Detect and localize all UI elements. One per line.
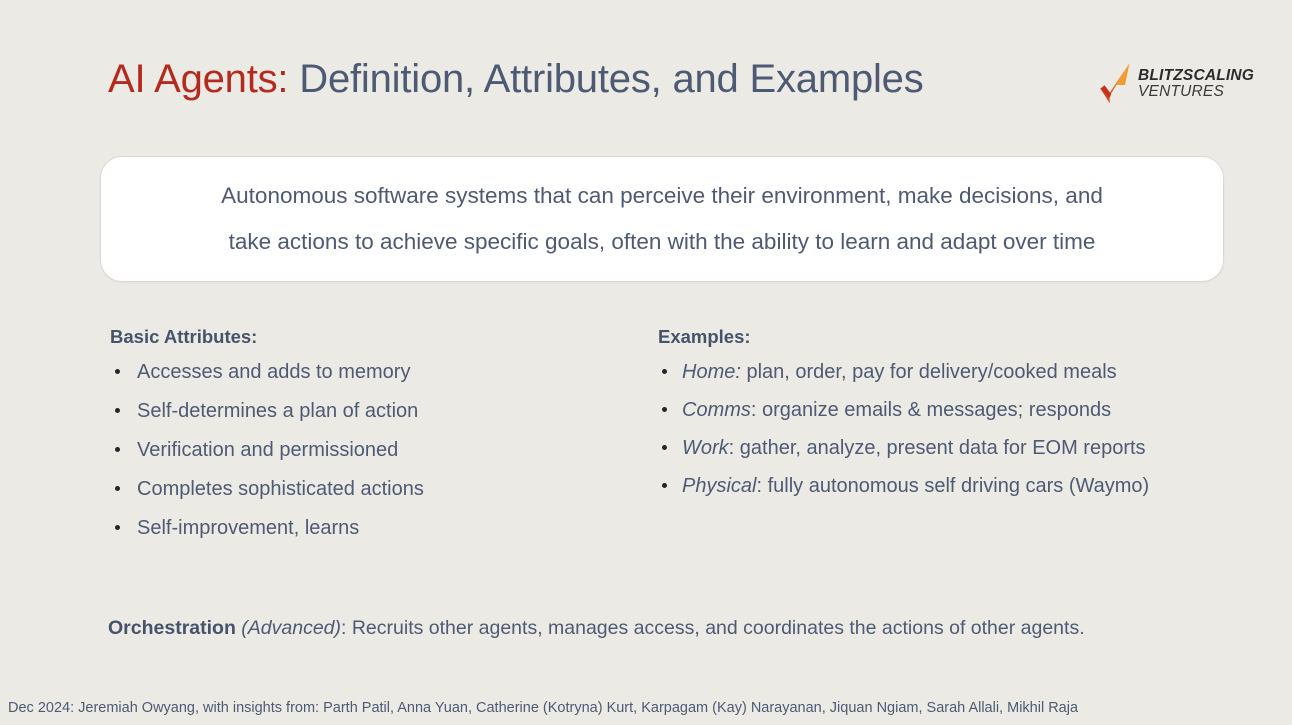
- list-item: Completes sophisticated actions: [110, 479, 630, 499]
- orchestration-label: Orchestration: [108, 617, 236, 639]
- brand-logo: BLITZSCALING VENTURES: [1096, 60, 1252, 108]
- list-item: Home: plan, order, pay for delivery/cook…: [658, 362, 1238, 382]
- page-title-rest: Definition, Attributes, and Examples: [288, 57, 923, 101]
- logo-line-1: BLITZSCALING: [1138, 68, 1254, 84]
- list-item: Physical: fully autonomous self driving …: [658, 476, 1238, 496]
- orchestration-text: : Recruits other agents, manages access,…: [341, 617, 1085, 639]
- footer-credits: Dec 2024: Jeremiah Owyang, with insights…: [8, 700, 1078, 717]
- logo-wordmark: BLITZSCALING VENTURES: [1138, 68, 1254, 100]
- orchestration-note: Orchestration (Advanced): Recruits other…: [108, 617, 1085, 640]
- list-item-text: : organize emails & messages; responds: [751, 399, 1111, 421]
- list-item: Self-improvement, learns: [110, 518, 630, 538]
- examples-list: Home: plan, order, pay for delivery/cook…: [658, 362, 1238, 496]
- list-item-lead: Home:: [682, 361, 741, 383]
- list-item-lead: Physical: [682, 475, 756, 497]
- page-title: AI Agents: Definition, Attributes, and E…: [108, 56, 924, 102]
- blitzscaling-arrow-icon: [1096, 61, 1136, 107]
- examples-heading: Examples:: [658, 326, 1238, 348]
- attributes-heading: Basic Attributes:: [110, 326, 630, 348]
- list-item: Accesses and adds to memory: [110, 362, 630, 382]
- list-item: Self-determines a plan of action: [110, 401, 630, 421]
- page-title-accent: AI Agents:: [108, 57, 288, 101]
- examples-column: Examples: Home: plan, order, pay for del…: [658, 326, 1238, 514]
- list-item-lead: Comms: [682, 399, 751, 421]
- attributes-column: Basic Attributes: Accesses and adds to m…: [110, 326, 630, 557]
- list-item-text: : gather, analyze, present data for EOM …: [729, 437, 1146, 459]
- list-item: Work: gather, analyze, present data for …: [658, 438, 1238, 458]
- list-item: Verification and permissioned: [110, 440, 630, 460]
- list-item-text: plan, order, pay for delivery/cooked mea…: [741, 361, 1117, 383]
- list-item: Comms: organize emails & messages; respo…: [658, 400, 1238, 420]
- definition-card: Autonomous software systems that can per…: [100, 156, 1224, 282]
- attributes-list: Accesses and adds to memory Self-determi…: [110, 362, 630, 538]
- list-item-text: : fully autonomous self driving cars (Wa…: [756, 475, 1149, 497]
- list-item-lead: Work: [682, 437, 729, 459]
- orchestration-qualifier: (Advanced): [236, 617, 341, 639]
- definition-line-1: Autonomous software systems that can per…: [221, 185, 1103, 208]
- definition-line-2: take actions to achieve specific goals, …: [229, 231, 1096, 254]
- logo-line-2: VENTURES: [1138, 84, 1254, 100]
